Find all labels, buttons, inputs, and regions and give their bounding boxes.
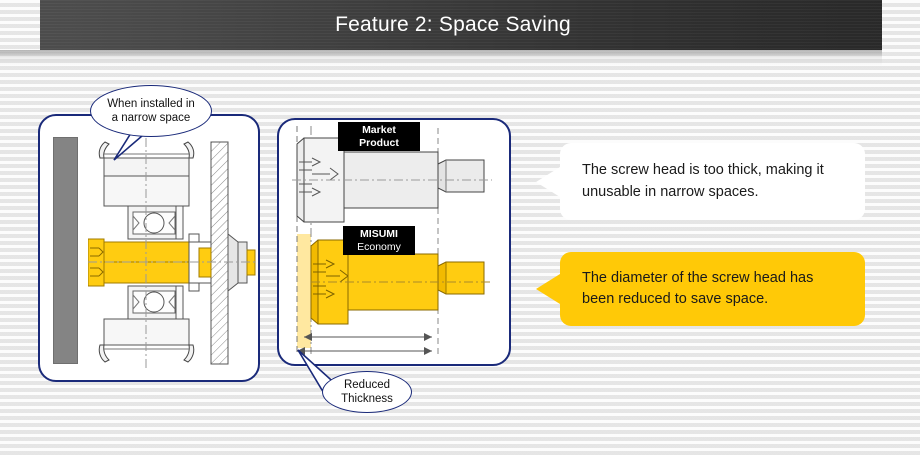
reduced-thickness-line1: Reduced — [341, 378, 393, 392]
yellow-callout-arrow — [536, 274, 560, 304]
misumi-economy-label-line2: Economy — [351, 241, 407, 254]
misumi-economy-note-line1: The diameter of the screw head has — [582, 268, 813, 289]
narrow-space-wall — [53, 137, 78, 364]
white-callout-arrow — [536, 167, 560, 197]
market-product-note-line1: The screw head is too thick, making it — [582, 160, 824, 181]
narrow-space-callout-line1: When installed in — [107, 97, 195, 111]
misumi-economy-note-callout: The diameter of the screw head has been … — [560, 252, 865, 326]
header-bar: Feature 2: Space Saving — [40, 0, 882, 50]
misumi-economy-label: MISUMI Economy — [343, 226, 415, 255]
misumi-economy-label-line1: MISUMI — [351, 228, 407, 241]
misumi-economy-note-line2: been reduced to save space. — [582, 289, 813, 310]
market-product-note-callout: The screw head is too thick, making it u… — [560, 143, 865, 220]
assembly-cross-section-drawing — [88, 130, 260, 375]
market-product-label: Market Product — [338, 122, 420, 151]
reduced-thickness-line2: Thickness — [341, 392, 393, 406]
header-shadow — [0, 50, 882, 66]
narrow-space-callout-line2: a narrow space — [107, 111, 195, 125]
market-product-note-line2: unusable in narrow spaces. — [582, 182, 824, 203]
page-title: Feature 2: Space Saving — [335, 13, 571, 37]
narrow-space-callout: When installed in a narrow space — [90, 85, 212, 137]
reduced-thickness-callout: Reduced Thickness — [322, 371, 412, 413]
